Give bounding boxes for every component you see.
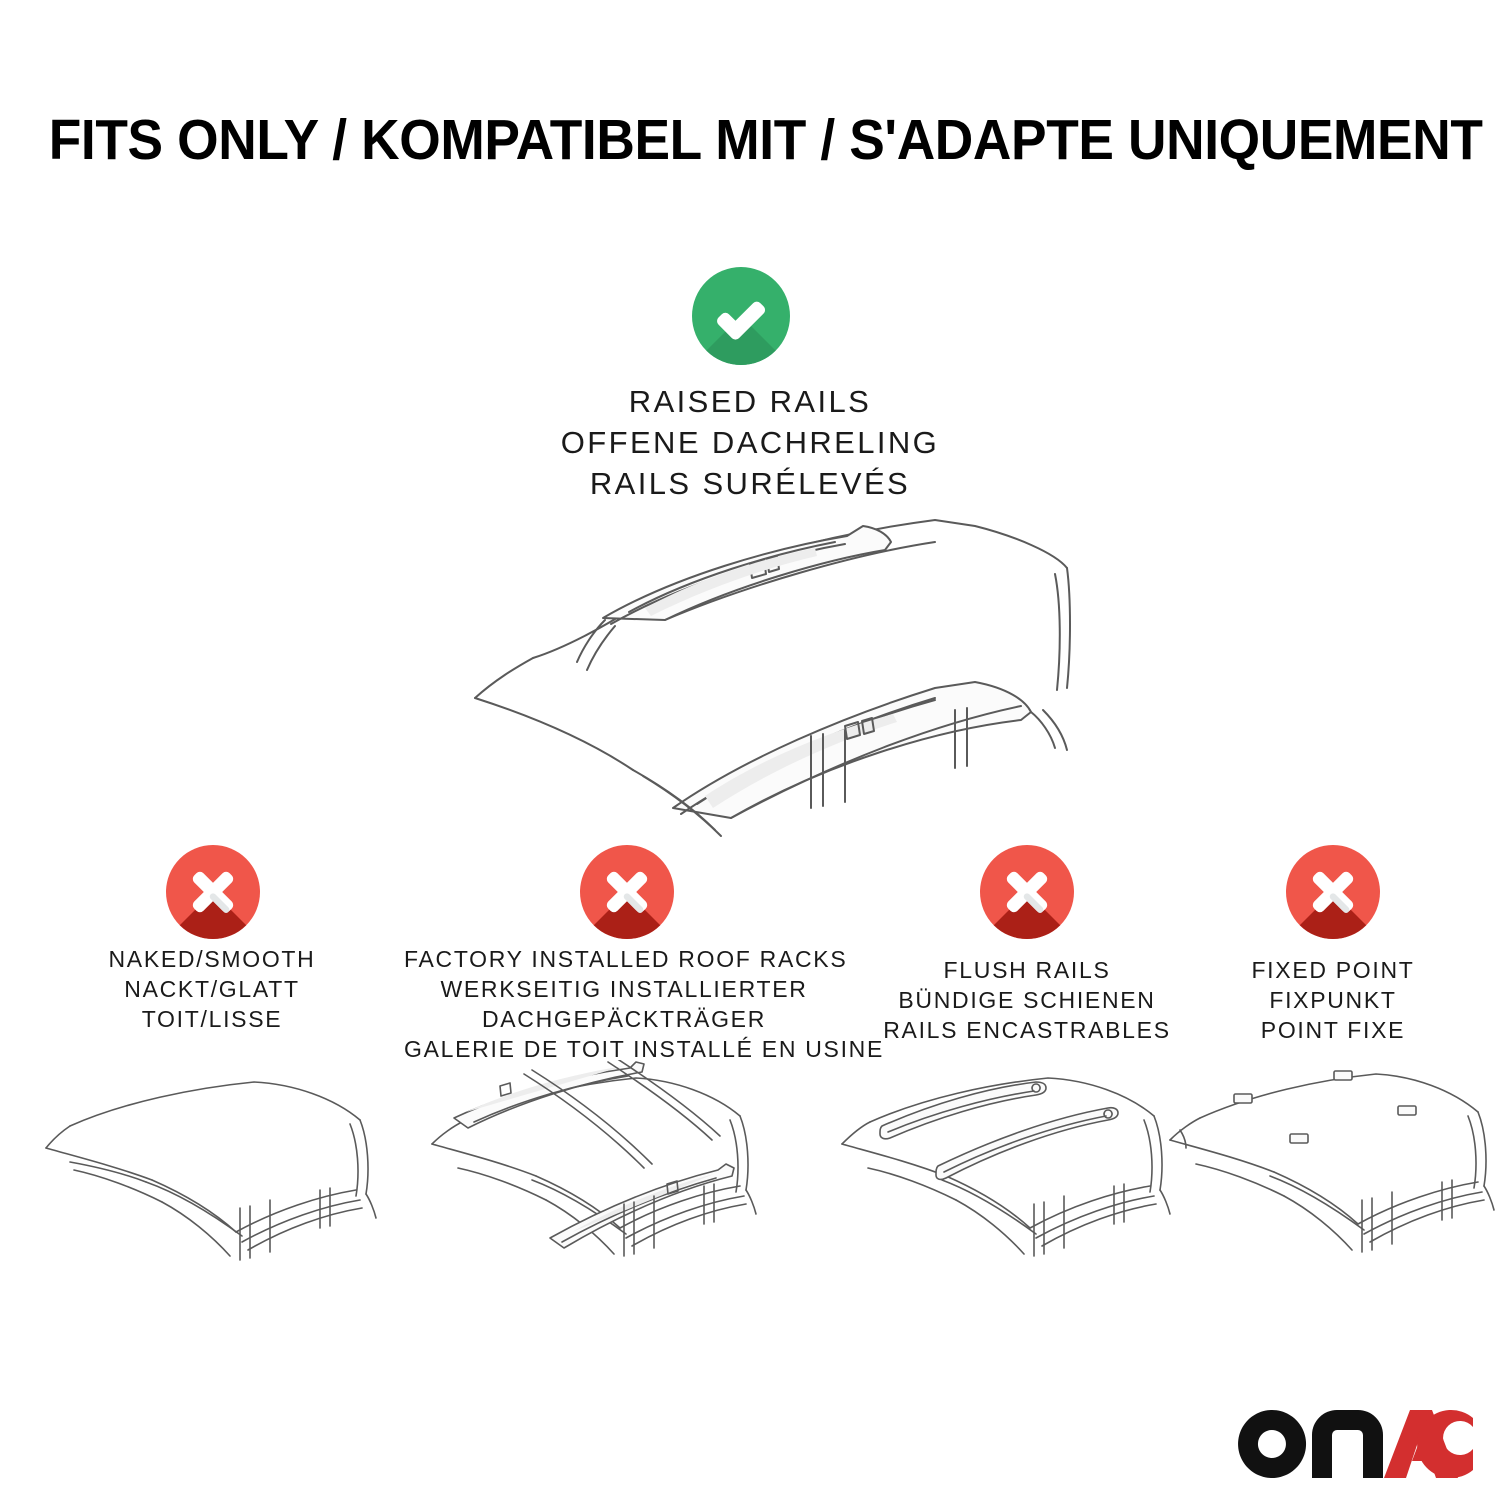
incompatible-labels: FACTORY INSTALLED ROOF RACKS WERKSEITIG … <box>404 944 844 1064</box>
cross-circle-icon <box>166 845 260 939</box>
compatible-label-en: RAISED RAILS <box>0 381 1500 422</box>
incompatible-label-de-2: DACHGEPÄCKTRÄGER <box>404 1004 844 1034</box>
incompatible-label-de: BÜNDIGE SCHIENEN <box>846 985 1208 1015</box>
omac-logo <box>1236 1409 1474 1479</box>
car-roof-factory-racks-drawing <box>422 1060 772 1290</box>
cross-circle-icon <box>1286 845 1380 939</box>
page-title: FITS ONLY / KOMPATIBEL MIT / S'ADAPTE UN… <box>49 108 1452 172</box>
incompatible-label-de: NACKT/GLATT <box>28 974 396 1004</box>
car-roof-fixed-point-drawing <box>1160 1060 1500 1290</box>
car-roof-raised-rails-drawing <box>415 508 1075 838</box>
compatible-label-fr: RAILS SURÉLEVÉS <box>0 463 1500 504</box>
incompatible-label-en: FIXED POINT <box>1190 955 1476 985</box>
incompatible-label-en: FACTORY INSTALLED ROOF RACKS <box>404 944 844 974</box>
incompatible-label-de: FIXPUNKT <box>1190 985 1476 1015</box>
cross-circle-icon <box>580 845 674 939</box>
cross-circle-icon <box>980 845 1074 939</box>
incompatible-label-fr: POINT FIXE <box>1190 1015 1476 1045</box>
incompatible-label-fr: RAILS ENCASTRABLES <box>846 1015 1208 1045</box>
incompatible-labels: NAKED/SMOOTH NACKT/GLATT TOIT/LISSE <box>28 944 396 1034</box>
incompatible-labels: FLUSH RAILS BÜNDIGE SCHIENEN RAILS ENCAS… <box>846 955 1208 1045</box>
incompatible-label-de-1: WERKSEITIG INSTALLIERTER <box>404 974 844 1004</box>
compatible-labels: RAISED RAILS OFFENE DACHRELING RAILS SUR… <box>0 381 1500 504</box>
compatible-label-de: OFFENE DACHRELING <box>0 422 1500 463</box>
car-roof-flush-rails-drawing <box>840 1060 1190 1290</box>
logo-letter-m <box>1312 1410 1383 1478</box>
incompatible-label-en: NAKED/SMOOTH <box>28 944 396 974</box>
incompatible-label-en: FLUSH RAILS <box>846 955 1208 985</box>
car-roof-naked-smooth-drawing <box>44 1060 394 1290</box>
incompatible-label-fr: TOIT/LISSE <box>28 1004 396 1034</box>
check-circle-icon <box>692 267 790 365</box>
logo-letter-o <box>1238 1410 1306 1478</box>
incompatible-labels: FIXED POINT FIXPUNKT POINT FIXE <box>1190 955 1476 1045</box>
